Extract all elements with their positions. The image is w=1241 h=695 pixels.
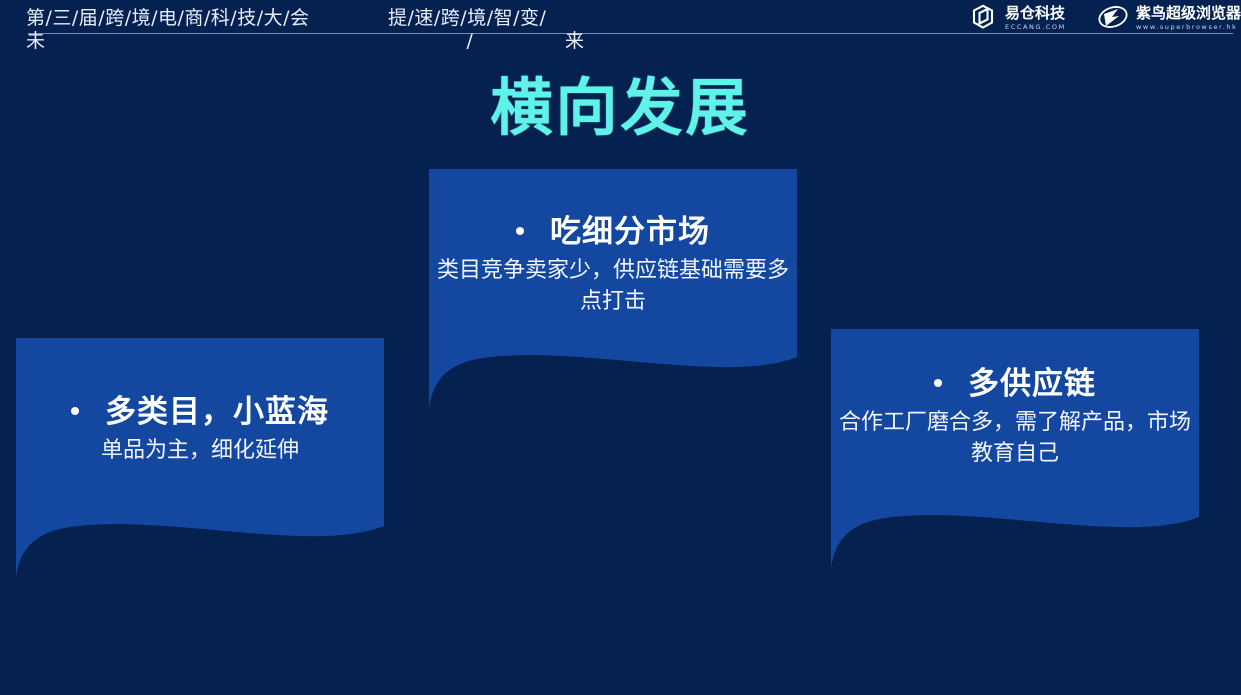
bullet-dot-icon [934, 379, 942, 387]
card-wave-decoration [429, 313, 797, 413]
card-right-heading-row: 多供应链 [839, 358, 1191, 403]
slide-title: 横向发展 [0, 57, 1241, 147]
content-card-left: 多类目，小蓝海 单品为主，细化延伸 [16, 338, 384, 582]
card-right-subtitle: 合作工厂磨合多，需了解产品，市场教育自己 [839, 407, 1191, 469]
logo-eccang-url: ECCANG.COM [1005, 24, 1066, 31]
card-left-heading-row: 多类目，小蓝海 [24, 386, 376, 431]
eccang-cube-logo-icon [968, 4, 998, 32]
logo-eccang-words: 易仓科技 ECCANG.COM [1005, 6, 1066, 31]
content-card-right: 多供应链 合作工厂磨合多，需了解产品，市场教育自己 [831, 329, 1199, 573]
logo-eccang-name: 易仓科技 [1005, 6, 1066, 21]
superbrowser-bird-logo-icon [1097, 4, 1129, 32]
card-left-subtitle: 单品为主，细化延伸 [24, 435, 376, 466]
conference-slogan: 提/速/跨/境/智/变/ / 来 [388, 7, 588, 53]
card-left-heading: 多类目，小蓝海 [105, 386, 329, 431]
card-left-body: 多类目，小蓝海 单品为主，细化延伸 [16, 338, 384, 466]
conference-title: 第/三/届/跨/境/电/商/科/技/大/会 未 [26, 7, 356, 53]
card-middle-heading-row: 吃细分市场 [437, 206, 789, 251]
slide-header: 第/三/届/跨/境/电/商/科/技/大/会 未 提/速/跨/境/智/变/ / 来… [0, 0, 1241, 56]
card-right-body: 多供应链 合作工厂磨合多，需了解产品，市场教育自己 [831, 329, 1199, 469]
bullet-dot-icon [516, 227, 524, 235]
content-card-middle: 吃细分市场 类目竞争卖家少，供应链基础需要多点打击 [429, 169, 797, 413]
card-middle-subtitle: 类目竞争卖家少，供应链基础需要多点打击 [437, 255, 789, 317]
card-right-heading: 多供应链 [968, 358, 1096, 403]
card-middle-body: 吃细分市场 类目竞争卖家少，供应链基础需要多点打击 [429, 169, 797, 317]
logo-eccang[interactable]: 易仓科技 ECCANG.COM [968, 4, 1066, 32]
logo-superbrowser-words: 紫鸟超级浏览器 www.superbrowser.hk [1136, 6, 1241, 31]
card-wave-decoration [16, 482, 384, 582]
logo-superbrowser-name: 紫鸟超级浏览器 [1136, 6, 1241, 21]
bullet-dot-icon [71, 407, 79, 415]
card-wave-decoration [831, 473, 1199, 573]
card-middle-heading: 吃细分市场 [550, 206, 710, 251]
logo-superbrowser[interactable]: 紫鸟超级浏览器 www.superbrowser.hk [1097, 4, 1241, 32]
logo-superbrowser-url: www.superbrowser.hk [1136, 24, 1241, 31]
